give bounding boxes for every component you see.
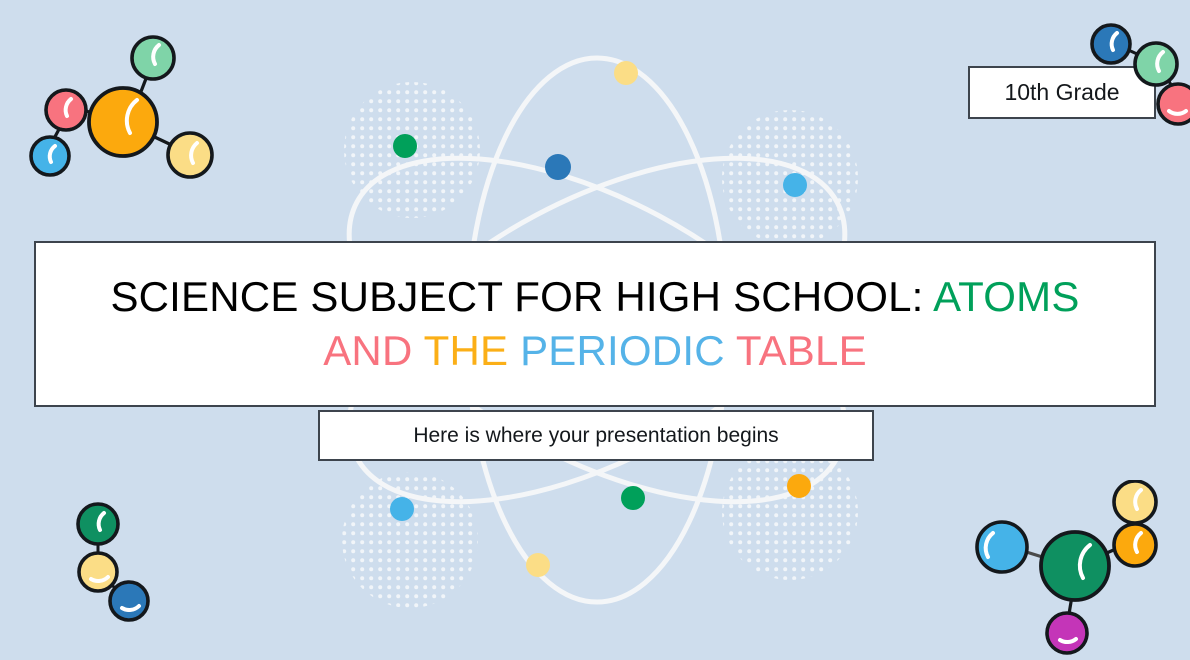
- electron-green-top-left: [393, 134, 417, 158]
- title-line-2: AND THE PERIODIC TABLE: [50, 324, 1140, 378]
- electron-blue-center: [545, 154, 571, 180]
- texture-circle-top-left: [344, 82, 480, 218]
- grade-badge[interactable]: 10th Grade: [968, 66, 1156, 119]
- title-part-main: SCIENCE SUBJECT FOR HIGH SCHOOL:: [110, 273, 923, 320]
- atom-yellow-light: [1114, 481, 1156, 523]
- title-part-the: THE: [424, 327, 509, 374]
- atom-highlight-group: [50, 45, 197, 163]
- presentation-slide: 10th Grade SCIENCE SUBJECT FOR HIGH SCHO…: [0, 0, 1190, 660]
- bond-blue-green: [1124, 48, 1148, 59]
- electron-green-bottom: [621, 486, 645, 510]
- bond-orange-yellow: [144, 132, 180, 149]
- atom-highlight-group: [986, 490, 1141, 642]
- texture-circle-bottom-right: [722, 444, 858, 580]
- texture-circle-top-right: [722, 110, 858, 246]
- atom-yellow-light: [168, 133, 212, 177]
- title-part-atoms: ATOMS: [933, 273, 1079, 320]
- atom-pink: [46, 90, 86, 130]
- atom-highlight-group: [91, 513, 139, 610]
- molecule-bottom-left: [62, 502, 172, 622]
- atom-orange-large: [89, 88, 157, 156]
- atom-magenta: [1047, 613, 1087, 653]
- bond-green-magenta: [1068, 590, 1073, 620]
- title-part-and: AND: [323, 327, 412, 374]
- electron-lightblue-left: [390, 497, 414, 521]
- title-part-table: TABLE: [736, 327, 867, 374]
- title-box: SCIENCE SUBJECT FOR HIGH SCHOOL: ATOMS A…: [34, 241, 1156, 407]
- atom-green-mint: [132, 37, 174, 79]
- grade-badge-label: 10th Grade: [1004, 79, 1119, 106]
- electron-orange-right: [787, 474, 811, 498]
- atom-green-large: [1041, 532, 1109, 600]
- molecule-bottom-right: [960, 480, 1190, 660]
- atom-blue-mid: [110, 582, 148, 620]
- bond-orange-green: [132, 63, 152, 115]
- texture-circle-bottom-left: [342, 472, 478, 608]
- atom-yellow-light: [79, 553, 117, 591]
- electron-yellow-top: [614, 61, 638, 85]
- bond-yellow-blue: [108, 582, 120, 592]
- bond-green-orange: [1100, 548, 1118, 556]
- electron-yellow-bottom: [526, 553, 550, 577]
- title-part-periodic: PERIODIC: [520, 327, 725, 374]
- page-title: SCIENCE SUBJECT FOR HIGH SCHOOL: ATOMS A…: [36, 270, 1154, 378]
- subtitle-label: Here is where your presentation begins: [413, 424, 778, 448]
- title-line-1: SCIENCE SUBJECT FOR HIGH SCHOOL: ATOMS: [50, 270, 1140, 324]
- bond-green-pink: [1164, 72, 1176, 94]
- atom-blue-light: [31, 137, 69, 175]
- atom-blue-mid: [1092, 25, 1130, 63]
- atom-green-deep: [78, 504, 118, 544]
- atom-orange: [1114, 524, 1156, 566]
- bond-green-blue: [1020, 550, 1052, 560]
- electron-lightblue-right: [783, 173, 807, 197]
- bond-pink-blue: [50, 120, 64, 146]
- subtitle-box: Here is where your presentation begins: [318, 410, 874, 461]
- atom-blue-light: [977, 522, 1027, 572]
- atom-pink: [1158, 84, 1190, 124]
- bond-orange-pink: [70, 106, 112, 119]
- molecule-top-left: [20, 22, 220, 192]
